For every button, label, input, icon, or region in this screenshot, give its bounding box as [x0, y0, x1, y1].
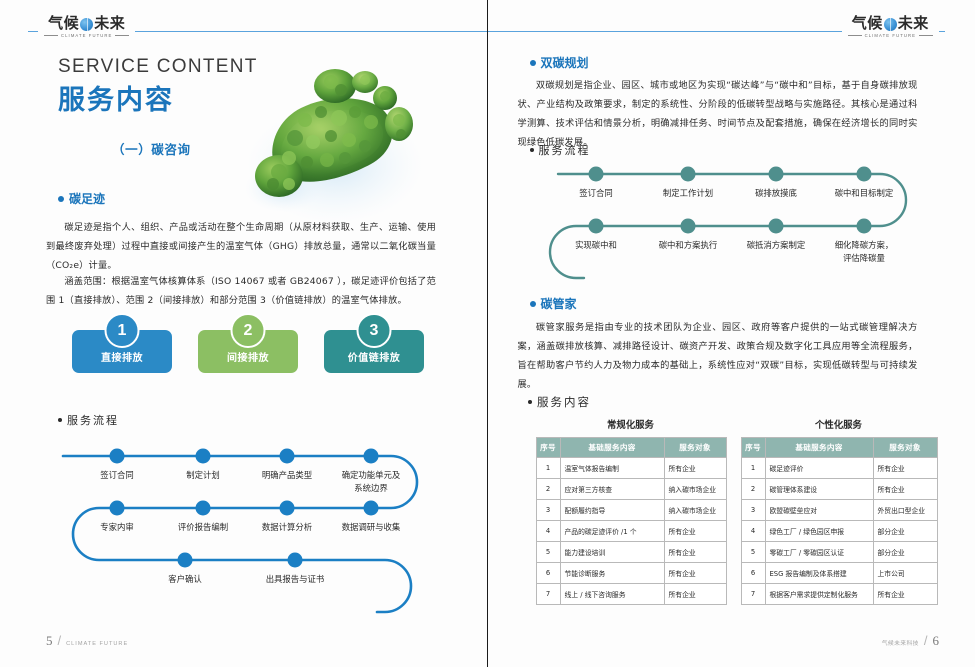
table-row: 1碳足迹评价所有企业	[741, 458, 937, 479]
flow-node-label: 数据计算分析	[262, 522, 312, 532]
page-number: 5	[46, 633, 53, 649]
cell-target: 所有企业	[664, 584, 726, 605]
bullet-dot-icon	[528, 400, 533, 405]
scope-card-number: 2	[231, 313, 266, 348]
flow-node-label: 实现碳中和	[575, 240, 617, 250]
cell-content: ESG 报告编制及体系搭建	[765, 563, 873, 584]
left-page: 气候 未来 CLIMATE FUTURE SERVICE CONTENT 服务内…	[0, 0, 488, 667]
cell-content: 配额履约指导	[560, 500, 664, 521]
cell-content: 能力建设培训	[560, 542, 664, 563]
logo-text-en: CLIMATE FUTURE	[61, 33, 112, 38]
flow-node-label: 签订合同	[100, 470, 134, 480]
table-title-custom: 个性化服务	[741, 417, 937, 431]
cell-content: 欧盟碳壁垒应对	[765, 500, 873, 521]
table-col-content: 基础服务内容	[765, 438, 873, 458]
cell-index: 2	[741, 479, 765, 500]
scope-card-label: 直接排放	[101, 349, 143, 364]
cell-content: 产品的碳足迹评价 /1 个	[560, 521, 664, 542]
scope-card-number: 1	[105, 313, 140, 348]
bullet-dot-icon	[530, 60, 536, 66]
cell-index: 4	[536, 521, 560, 542]
scope-card-2: 2 间接排放	[198, 330, 298, 373]
flow-node-label: 确定功能单元及	[342, 470, 401, 480]
carbon-footprint-tree-illustration	[243, 60, 433, 235]
logo-right: 气候 未来 CLIMATE FUTURE	[842, 16, 939, 38]
flow-node-label: 明确产品类型	[262, 470, 312, 480]
cell-target: 纳入碳市场企业	[664, 500, 726, 521]
service-flow-diagram-right: 签订合同 制定工作计划 碳排放摸底 碳中和目标制定 实现碳中和 碳中和方案执行 …	[528, 160, 938, 290]
table-row: 4产品的碳足迹评价 /1 个所有企业	[536, 521, 726, 542]
cell-index: 3	[536, 500, 560, 521]
cell-content: 绿色工厂 / 绿色园区申报	[765, 521, 873, 542]
table-row: 6节能诊断服务所有企业	[536, 563, 726, 584]
flow-node-label: 制定计划	[186, 470, 220, 480]
table-row: 7线上 / 线下咨询服务所有企业	[536, 584, 726, 605]
paragraph-footprint-definition: 碳足迹是指个人、组织、产品或活动在整个生命周期（从原材料获取、生产、运输、使用到…	[46, 218, 436, 275]
heading-service-flow-right: 服务流程	[530, 142, 591, 158]
cell-target: 所有企业	[873, 479, 937, 500]
logo-text-cn-second: 未来	[94, 16, 125, 31]
paragraph-carbon-steward: 碳管家服务是指由专业的技术团队为企业、园区、政府等客户提供的一站式碳管理解决方案…	[518, 318, 918, 394]
cell-target: 所有企业	[873, 458, 937, 479]
bullet-dot-icon	[58, 196, 64, 202]
right-page: 气候 未来 CLIMATE FUTURE 双碳规划 双碳规划是指企业、园区、城市…	[488, 0, 975, 667]
table-custom-services: 序号 基础服务内容 服务对象 1碳足迹评价所有企业 2碳管理体系建设所有企业 3…	[741, 437, 938, 605]
cell-target: 所有企业	[873, 584, 937, 605]
heading-dual-carbon-planning: 双碳规划	[530, 54, 589, 71]
flow-node-label-line2: 评估降碳量	[843, 253, 885, 263]
scope-card-label: 价值链排放	[348, 349, 401, 364]
cell-target: 外贸出口型企业	[873, 500, 937, 521]
scope-card-1: 1 直接排放	[72, 330, 172, 373]
scope-card-3: 3 价值链排放	[324, 330, 424, 373]
cell-target: 部分企业	[873, 542, 937, 563]
footer-left: 5 / CLIMATE FUTURE	[46, 633, 128, 649]
heading-carbon-footprint: 碳足迹	[58, 190, 105, 207]
globe-icon	[80, 18, 93, 31]
cell-index: 1	[741, 458, 765, 479]
cell-index: 6	[741, 563, 765, 584]
cell-content: 碳管理体系建设	[765, 479, 873, 500]
brochure-spread: 气候 未来 CLIMATE FUTURE SERVICE CONTENT 服务内…	[0, 0, 975, 667]
section-label: （一）碳咨询	[112, 139, 191, 158]
cell-index: 5	[741, 542, 765, 563]
cell-index: 4	[741, 521, 765, 542]
footer-slash: /	[924, 633, 928, 648]
cell-content: 节能诊断服务	[560, 563, 664, 584]
heading-service-content: 服务内容	[528, 394, 592, 410]
table-row: 2碳管理体系建设所有企业	[741, 479, 937, 500]
logo-text-cn-first: 气候	[48, 16, 79, 31]
cell-content: 线上 / 线下咨询服务	[560, 584, 664, 605]
table-row: 7根据客户需求提供定制化服务所有企业	[741, 584, 937, 605]
table-row: 2应对第三方核查纳入碳市场企业	[536, 479, 726, 500]
footer-slash: /	[58, 633, 62, 648]
table-col-content: 基础服务内容	[560, 438, 664, 458]
cell-target: 纳入碳市场企业	[664, 479, 726, 500]
cell-target: 所有企业	[664, 521, 726, 542]
cell-index: 5	[536, 542, 560, 563]
table-header-row: 序号 基础服务内容 服务对象	[536, 438, 726, 458]
cell-index: 6	[536, 563, 560, 584]
bullet-dot-icon	[58, 418, 62, 422]
scope-card-label: 间接排放	[227, 349, 269, 364]
table-header-row: 序号 基础服务内容 服务对象	[741, 438, 937, 458]
scope-card-number: 3	[357, 313, 392, 348]
flow-node-label: 碳中和方案执行	[658, 240, 717, 250]
cell-index: 1	[536, 458, 560, 479]
table-title-standard: 常规化服务	[536, 417, 726, 431]
page-number: 6	[933, 633, 940, 649]
logo-text-cn-second: 未来	[898, 16, 929, 31]
heading-text: 服务内容	[537, 394, 591, 410]
cell-target: 上市公司	[873, 563, 937, 584]
service-flow-diagram-left: 签订合同 制定计划 明确产品类型 确定功能单元及 系统边界 专家内审 评价报告编…	[55, 428, 435, 628]
globe-icon	[884, 18, 897, 31]
cell-target: 所有企业	[664, 458, 726, 479]
heading-text: 碳管家	[541, 295, 577, 312]
heading-carbon-steward: 碳管家	[530, 295, 577, 312]
cell-index: 2	[536, 479, 560, 500]
flow-node-label: 专家内审	[100, 522, 134, 532]
scope-cards: 1 直接排放 2 间接排放 3 价值链排放	[72, 330, 424, 373]
logo-text-en: CLIMATE FUTURE	[865, 33, 916, 38]
flow-node-label: 评价报告编制	[178, 522, 228, 532]
bullet-dot-icon	[530, 301, 536, 307]
table-col-index: 序号	[536, 438, 560, 458]
table-col-target: 服务对象	[664, 438, 726, 458]
flow-node-label: 细化降碳方案，	[834, 240, 893, 250]
flow-node-label: 碳中和目标制定	[834, 188, 893, 198]
table-row: 5能力建设培训所有企业	[536, 542, 726, 563]
flow-node-label: 碳抵消方案制定	[746, 240, 805, 250]
table-standard-services: 序号 基础服务内容 服务对象 1温室气体报告编制所有企业 2应对第三方核查纳入碳…	[536, 437, 727, 605]
heading-text: 双碳规划	[541, 54, 589, 71]
cell-index: 7	[741, 584, 765, 605]
cell-target: 所有企业	[664, 563, 726, 584]
flow-node-label: 签订合同	[579, 188, 613, 198]
page-title-en: SERVICE CONTENT	[58, 56, 258, 78]
bullet-dot-icon	[530, 148, 534, 152]
cell-content: 温室气体报告编制	[560, 458, 664, 479]
cell-target: 所有企业	[664, 542, 726, 563]
cell-index: 3	[741, 500, 765, 521]
table-row: 6ESG 报告编制及体系搭建上市公司	[741, 563, 937, 584]
flow-labels: 签订合同 制定计划 明确产品类型 确定功能单元及 系统边界 专家内审 评价报告编…	[100, 470, 401, 584]
flow-node-label: 数据调研与收集	[342, 522, 401, 532]
cell-content: 零碳工厂 / 零碳园区认证	[765, 542, 873, 563]
flow-node-label-line2: 系统边界	[354, 483, 388, 493]
table-row: 3配额履约指导纳入碳市场企业	[536, 500, 726, 521]
table-col-index: 序号	[741, 438, 765, 458]
paragraph-dual-carbon-planning: 双碳规划是指企业、园区、城市或地区为实现“碳达峰”与“碳中和”目标，基于自身碳排…	[518, 76, 918, 152]
table-col-target: 服务对象	[873, 438, 937, 458]
cell-target: 部分企业	[873, 521, 937, 542]
cell-content: 根据客户需求提供定制化服务	[765, 584, 873, 605]
flow-node-label: 出具报告与证书	[266, 574, 325, 584]
flow-node-label: 碳排放摸底	[755, 188, 797, 198]
table-row: 1温室气体报告编制所有企业	[536, 458, 726, 479]
table-row: 4绿色工厂 / 绿色园区申报部分企业	[741, 521, 937, 542]
cell-index: 7	[536, 584, 560, 605]
heading-text: 服务流程	[67, 412, 119, 428]
heading-service-flow-left: 服务流程	[58, 412, 119, 428]
cell-content: 碳足迹评价	[765, 458, 873, 479]
flow-node-label: 客户确认	[168, 574, 202, 584]
page-title-cn: 服务内容	[58, 78, 174, 117]
footer-right: 气候未来科技 / 6	[882, 633, 939, 649]
table-row: 5零碳工厂 / 零碳园区认证部分企业	[741, 542, 937, 563]
logo-text-cn-first: 气候	[852, 16, 883, 31]
table-row: 3欧盟碳壁垒应对外贸出口型企业	[741, 500, 937, 521]
heading-text: 服务流程	[539, 142, 591, 158]
heading-text: 碳足迹	[69, 190, 105, 207]
cell-content: 应对第三方核查	[560, 479, 664, 500]
flow-node-label: 制定工作计划	[662, 188, 712, 198]
logo-left: 气候 未来 CLIMATE FUTURE	[38, 16, 135, 38]
footer-brand: CLIMATE FUTURE	[66, 641, 128, 647]
paragraph-footprint-scope: 涵盖范围：根据温室气体核算体系（ISO 14067 或者 GB24067 ），碳…	[46, 272, 436, 310]
footer-brand: 气候未来科技	[882, 638, 919, 647]
